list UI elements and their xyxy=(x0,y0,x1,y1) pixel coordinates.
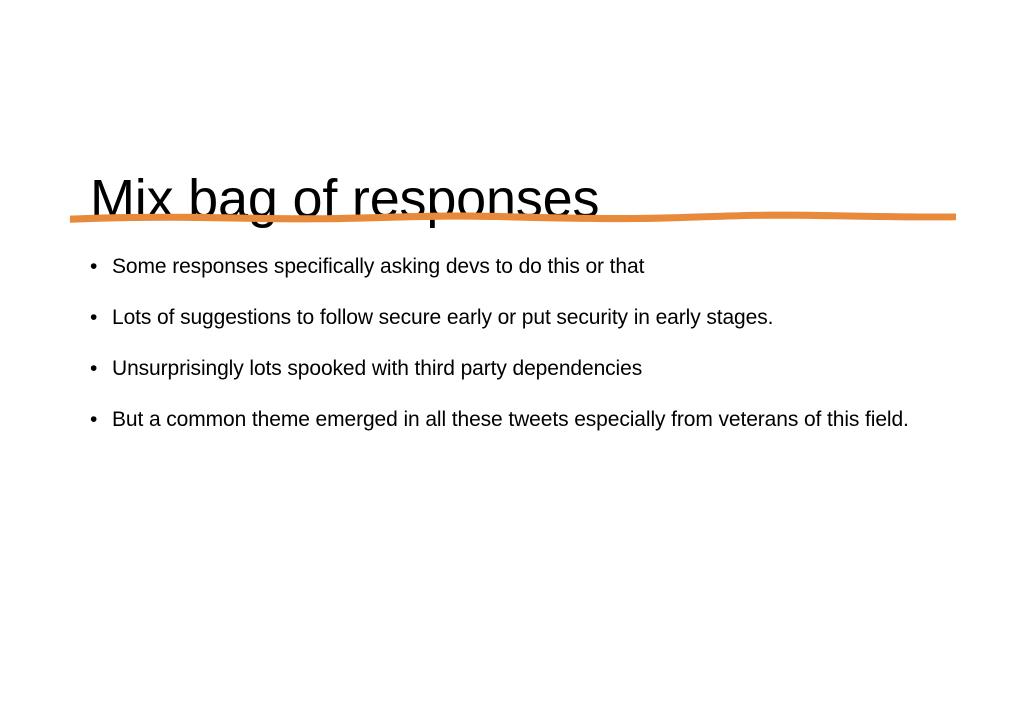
list-item: • Some responses specifically asking dev… xyxy=(90,252,990,303)
bullet-list: • Some responses specifically asking dev… xyxy=(90,252,990,456)
list-item: • Unsurprisingly lots spooked with third… xyxy=(90,354,990,405)
presentation-slide: Mix bag of responses • Some responses sp… xyxy=(0,0,1024,724)
orange-brush-divider xyxy=(68,200,958,228)
bullet-point-icon: • xyxy=(90,252,112,282)
bullet-text: Unsurprisingly lots spooked with third p… xyxy=(112,354,990,384)
bullet-text: But a common theme emerged in all these … xyxy=(112,405,990,435)
bullet-text: Some responses specifically asking devs … xyxy=(112,252,990,282)
bullet-point-icon: • xyxy=(90,405,112,435)
bullet-text: Lots of suggestions to follow secure ear… xyxy=(112,303,990,333)
list-item: • But a common theme emerged in all thes… xyxy=(90,405,990,456)
list-item: • Lots of suggestions to follow secure e… xyxy=(90,303,990,354)
divider-stroke-icon xyxy=(68,200,958,228)
bullet-point-icon: • xyxy=(90,303,112,333)
bullet-point-icon: • xyxy=(90,354,112,384)
